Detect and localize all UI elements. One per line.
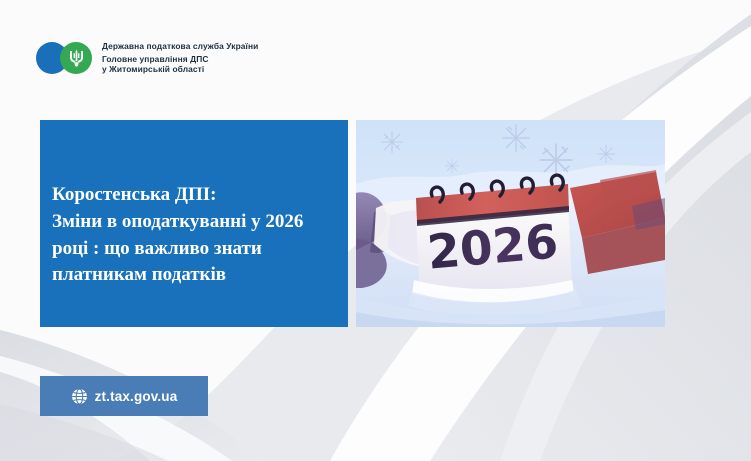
url-text: zt.tax.gov.ua [95, 389, 178, 404]
headline-card: Коростенська ДПІ: Зміни в оподаткуванні … [40, 120, 348, 327]
tax-service-announcement-banner: Державна податкова служба України Головн… [0, 0, 751, 461]
winter-calendar-illustration: 2026 [356, 120, 665, 327]
headline-title: Коростенська ДПІ: Зміни в оподаткуванні … [40, 182, 317, 290]
org-line-1: Державна податкова служба України [102, 41, 258, 52]
ukrainian-trident-icon [60, 42, 92, 74]
globe-icon [71, 388, 88, 405]
logo-marks [36, 42, 92, 74]
illustration-card: 2026 [356, 120, 665, 327]
organization-name: Державна податкова служба України Головн… [102, 41, 258, 75]
organization-logo-block: Державна податкова служба України Головн… [36, 36, 258, 80]
org-line-2: Головне управління ДПС [102, 54, 258, 65]
calendar-year-label: 2026 [425, 214, 560, 280]
org-line-3: у Житомирській області [102, 64, 258, 75]
website-url-badge[interactable]: zt.tax.gov.ua [40, 376, 208, 416]
